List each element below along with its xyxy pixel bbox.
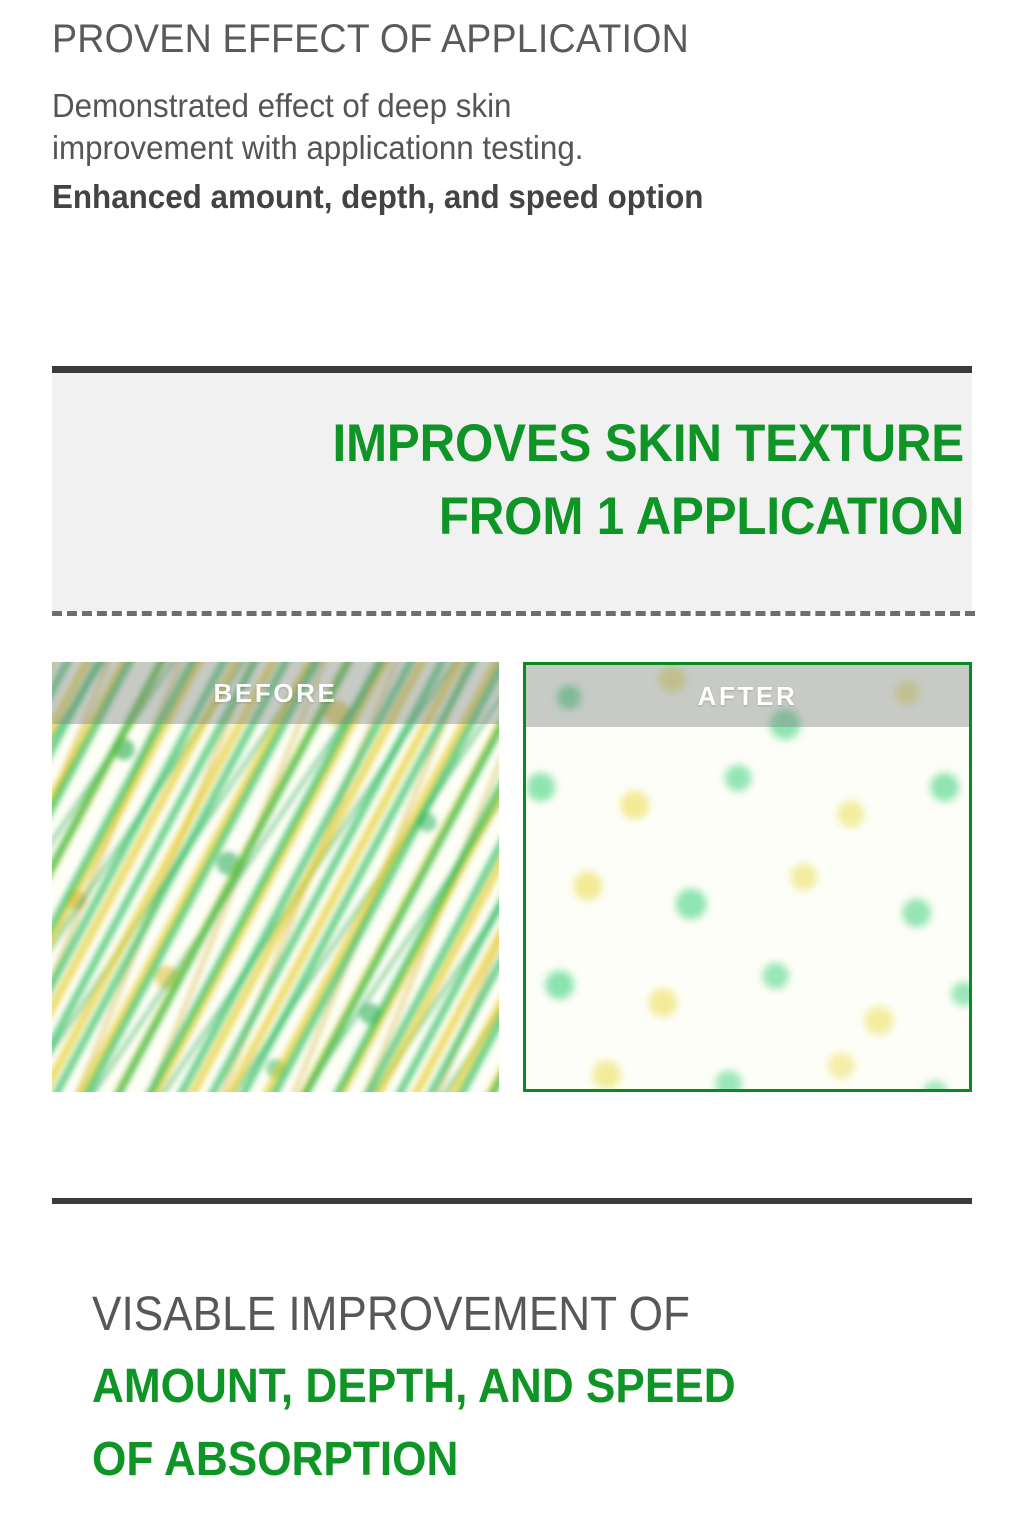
after-panel[interactable]: AFTER [523, 662, 972, 1092]
after-label: AFTER [698, 681, 798, 712]
section-divider [52, 1198, 972, 1204]
before-after-comparison: BEFORE AFTER [52, 662, 972, 1092]
before-skin-texture-image [52, 662, 499, 1092]
before-label: BEFORE [214, 678, 338, 709]
footer-text-block: VISABLE IMPROVEMENT OF AMOUNT, DEPTH, AN… [92, 1286, 992, 1491]
claim-banner: IMPROVES SKIN TEXTURE FROM 1 APPLICATION [52, 366, 972, 611]
subtitle-line-1: Demonstrated effect of deep skin [52, 85, 936, 127]
banner-headline-line-1: IMPROVES SKIN TEXTURE [116, 407, 964, 480]
subtitle-emphasis: Enhanced amount, depth, and speed option [52, 176, 936, 218]
before-panel[interactable]: BEFORE [52, 662, 499, 1092]
before-label-band: BEFORE [52, 662, 499, 724]
after-label-band: AFTER [526, 665, 969, 727]
banner-top-rule [52, 366, 972, 373]
footer-heading-green-2: OF ABSORPTION [92, 1428, 920, 1491]
subtitle-line-2: improvement with applicationn testing. [52, 127, 936, 169]
footer-heading-green-1: AMOUNT, DEPTH, AND SPEED [92, 1355, 920, 1418]
banner-dashed-divider [52, 611, 975, 616]
page-title: PROVEN EFFECT OF APPLICATION [52, 16, 926, 63]
banner-body: IMPROVES SKIN TEXTURE FROM 1 APPLICATION [52, 373, 972, 611]
footer-heading-gray: VISABLE IMPROVEMENT OF [92, 1286, 920, 1345]
banner-headline-line-2: FROM 1 APPLICATION [116, 480, 964, 553]
header-text-block: PROVEN EFFECT OF APPLICATION Demonstrate… [52, 16, 982, 218]
